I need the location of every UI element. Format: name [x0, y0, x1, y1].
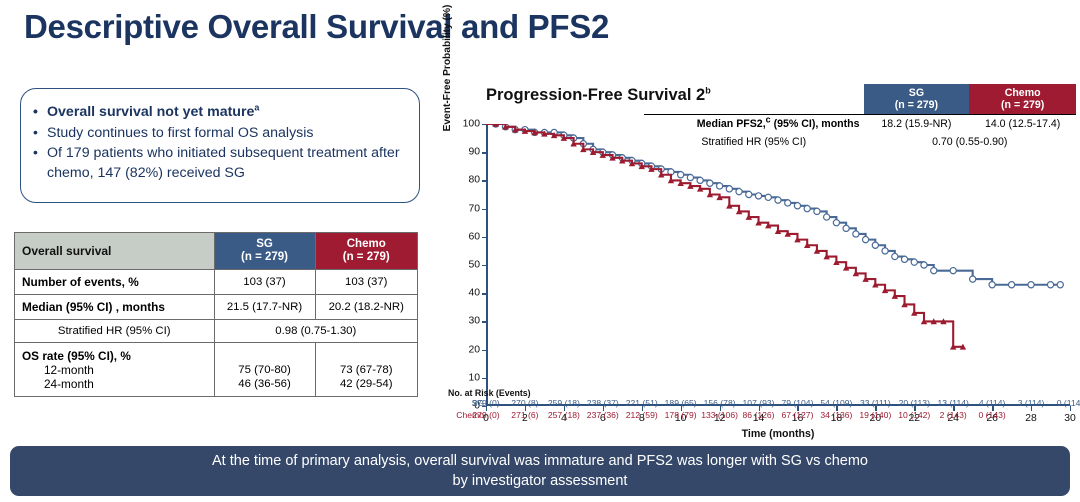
- km-curve-sg: [486, 124, 1060, 285]
- list-item: Of 179 patients who initiated subsequent…: [47, 144, 409, 183]
- row-label-stratified-hr: Stratified HR (95% CI): [15, 320, 215, 343]
- stratified-hr-value: 0.98 (0.75-1.30): [214, 320, 417, 343]
- censor-marker: [1009, 282, 1015, 288]
- y-tick-mark: [482, 321, 486, 322]
- risk-cell: 54 (109): [820, 398, 852, 408]
- table-row: Median (95% CI) , months 21.5 (17.7-NR) …: [15, 295, 418, 320]
- y-tick-label: 20: [468, 344, 480, 355]
- censor-marker: [726, 186, 732, 192]
- y-tick-label: 70: [468, 203, 480, 214]
- y-tick-label: 50: [468, 260, 480, 271]
- pfs2-header-chemo: Chemo (n = 279): [969, 84, 1076, 115]
- risk-cell: 4 (114): [979, 398, 1006, 408]
- risk-cell: 279 (0): [472, 410, 499, 420]
- risk-cell: 133 (106): [701, 410, 738, 420]
- y-tick-mark: [482, 209, 486, 210]
- risk-cell: 20 (113): [899, 398, 930, 408]
- risk-cell: 10 (142): [898, 410, 930, 420]
- pfs2-header-spacer: [644, 84, 864, 115]
- y-tick-mark: [482, 265, 486, 266]
- summary-banner: At the time of primary analysis, overall…: [10, 446, 1070, 496]
- x-axis-label: Time (months): [486, 428, 1070, 440]
- risk-cell: 2 (143): [940, 410, 967, 420]
- y-tick-label: 100: [463, 119, 480, 130]
- os-rate-chemo-values: 73 (67-78) 42 (29-54): [315, 343, 418, 397]
- bullet-text: Study continues to first formal OS analy…: [47, 125, 314, 141]
- risk-cell: 178 (79): [665, 410, 697, 420]
- y-tick-label: 30: [468, 316, 480, 327]
- os-rate-title: OS rate (95% CI), %: [22, 349, 131, 363]
- pfs2-header-sg-n: (n = 279): [895, 99, 938, 111]
- table-row: OS rate (95% CI), % 12-month 24-month 75…: [15, 343, 418, 397]
- os-rate-24-month-label: 24-month: [22, 377, 207, 391]
- y-tick-mark: [482, 293, 486, 294]
- risk-cell: 86 (126): [743, 410, 775, 420]
- overall-survival-table: Overall survival SG (n = 279) Chemo (n =…: [14, 232, 418, 397]
- banner-line-1: At the time of primary analysis, overall…: [212, 453, 868, 469]
- km-curves-svg: [486, 124, 1070, 406]
- censor-marker: [892, 253, 898, 259]
- y-tick-mark: [482, 378, 486, 379]
- events-chemo-value: 103 (37): [315, 270, 418, 295]
- censor-marker: [794, 203, 800, 209]
- censor-marker: [882, 248, 888, 254]
- bullet-list: Overall survival not yet maturea Study c…: [21, 89, 419, 183]
- risk-cell: 79 (104): [781, 398, 813, 408]
- risk-cell: 156 (78): [704, 398, 736, 408]
- risk-cell: 257 (18): [548, 410, 580, 420]
- censor-marker: [911, 259, 917, 265]
- risk-row-chemo: Chemo 279 (0)271 (6)257 (18)237 (36)212 …: [424, 410, 1080, 422]
- risk-table-heading: No. at Risk (Events): [448, 388, 1080, 398]
- y-tick-mark: [482, 124, 486, 125]
- censor-marker: [950, 268, 956, 274]
- median-sg-value: 21.5 (17.7-NR): [214, 295, 315, 320]
- censor-marker: [970, 276, 976, 282]
- y-tick-label: 80: [468, 175, 480, 186]
- censor-marker: [853, 231, 859, 237]
- os-rate-sg-12: 75 (70-80): [222, 363, 308, 377]
- os-header-sg-name: SG: [256, 238, 273, 250]
- number-at-risk-table: No. at Risk (Events) SG 279 (0)270 (8)25…: [424, 388, 1080, 422]
- row-label-median: Median (95% CI) , months: [15, 295, 215, 320]
- censor-marker: [755, 193, 761, 199]
- y-tick-label: 10: [468, 372, 480, 383]
- km-curve-chemo: [486, 124, 963, 347]
- risk-cell: 237 (36): [587, 410, 619, 420]
- censor-marker: [785, 200, 791, 206]
- banner-line-2: by investigator assessment: [453, 473, 628, 489]
- risk-cell: 271 (6): [511, 410, 538, 420]
- y-tick-mark: [482, 237, 486, 238]
- y-tick-mark: [482, 180, 486, 181]
- pfs2-header-sg: SG (n = 279): [864, 84, 970, 115]
- censor-marker: [863, 237, 869, 243]
- risk-cell: 3 (114): [1018, 398, 1045, 408]
- censor-marker: [804, 206, 810, 212]
- os-rate-12-month-label: 12-month: [22, 363, 207, 377]
- os-rate-sg-values: 75 (70-80) 46 (36-56): [214, 343, 315, 397]
- table-header-row: SG (n = 279) Chemo (n = 279): [644, 84, 1076, 115]
- risk-cell: 0 (143): [979, 410, 1006, 420]
- risk-cell: 19 (140): [859, 410, 891, 420]
- censor-marker: [1057, 282, 1063, 288]
- risk-cell: 34 (136): [820, 410, 852, 420]
- censor-marker: [765, 194, 771, 200]
- risk-cell: 221 (51): [626, 398, 658, 408]
- footnote-marker-a: a: [254, 102, 259, 112]
- censor-marker: [717, 183, 723, 189]
- list-item: Study continues to first formal OS analy…: [47, 124, 409, 144]
- risk-cell: 33 (111): [860, 398, 891, 408]
- y-tick-label: 40: [468, 288, 480, 299]
- censor-marker: [872, 242, 878, 248]
- censor-marker: [697, 177, 703, 183]
- censor-marker: [931, 268, 937, 274]
- risk-cell: 238 (37): [587, 398, 619, 408]
- risk-cell: 67 (127): [781, 410, 813, 420]
- os-header-chemo-n: (n = 279): [343, 251, 390, 263]
- key-points-callout: Overall survival not yet maturea Study c…: [20, 88, 420, 203]
- banner-text: At the time of primary analysis, overall…: [212, 451, 868, 491]
- y-axis-label: Event-Free Probability (%): [442, 0, 453, 168]
- table-header-row: Overall survival SG (n = 279) Chemo (n =…: [15, 233, 418, 270]
- os-header-label: Overall survival: [15, 233, 215, 270]
- pfs2-header-sg-name: SG: [909, 87, 924, 99]
- pfs2-header-chemo-name: Chemo: [1005, 87, 1041, 99]
- censor-marker: [814, 208, 820, 214]
- os-header-chemo: Chemo (n = 279): [315, 233, 418, 270]
- risk-cell: 270 (8): [511, 398, 538, 408]
- pfs2-header-chemo-n: (n = 279): [1001, 99, 1044, 111]
- risk-cell: 212 (59): [626, 410, 658, 420]
- os-rate-chemo-12: 73 (67-78): [323, 363, 411, 377]
- row-label-events: Number of events, %: [15, 270, 215, 295]
- censor-marker: [736, 189, 742, 195]
- censor-marker: [989, 282, 995, 288]
- median-chemo-value: 20.2 (18.2-NR): [315, 295, 418, 320]
- table-row: Number of events, % 103 (37) 103 (37): [15, 270, 418, 295]
- censor-marker: [775, 197, 781, 203]
- km-plot: Event-Free Probability (%) Time (months)…: [486, 124, 1070, 406]
- censor-marker: [687, 174, 693, 180]
- table-row: Stratified HR (95% CI) 0.98 (0.75-1.30): [15, 320, 418, 343]
- censor-marker: [833, 220, 839, 226]
- y-tick-label: 60: [468, 231, 480, 242]
- censor-marker: [678, 172, 684, 178]
- y-tick-label: 90: [468, 147, 480, 158]
- censor-marker: [824, 214, 830, 220]
- risk-cell: 107 (93): [743, 398, 775, 408]
- risk-cell: 13 (114): [938, 398, 969, 408]
- os-header-chemo-name: Chemo: [347, 238, 386, 250]
- os-rate-chemo-24: 42 (29-54): [323, 377, 411, 391]
- bullet-text: Overall survival not yet mature: [47, 104, 254, 120]
- risk-cell: 0 (114): [1057, 398, 1080, 408]
- os-rate-sg-24: 46 (36-56): [222, 377, 308, 391]
- pfs2-chart-region: Progression-Free Survival 2b SG (n = 279…: [424, 78, 1080, 438]
- censor-marker: [707, 180, 713, 186]
- censor-marker: [1028, 282, 1034, 288]
- events-sg-value: 103 (37): [214, 270, 315, 295]
- censor-marker: [746, 191, 752, 197]
- y-tick-mark: [482, 152, 486, 153]
- risk-cell: 279 (0): [472, 398, 499, 408]
- censor-marker: [843, 225, 849, 231]
- page-title: Descriptive Overall Survival and PFS2: [24, 8, 609, 46]
- censor-marker: [1047, 282, 1053, 288]
- os-header-sg-n: (n = 279): [241, 251, 288, 263]
- censor-marker: [921, 262, 927, 268]
- risk-cell: 259 (18): [548, 398, 580, 408]
- censor-marker: [901, 256, 907, 262]
- risk-row-sg: SG 279 (0)270 (8)259 (18)238 (37)221 (51…: [424, 398, 1080, 410]
- os-header-sg: SG (n = 279): [214, 233, 315, 270]
- bullet-text: Of 179 patients who initiated subsequent…: [47, 145, 400, 181]
- y-tick-mark: [482, 350, 486, 351]
- row-label-os-rate: OS rate (95% CI), % 12-month 24-month: [15, 343, 215, 397]
- list-item: Overall survival not yet maturea: [47, 103, 409, 123]
- slide-root: Descriptive Overall Survival and PFS2 Ov…: [0, 0, 1080, 502]
- risk-cell: 189 (65): [665, 398, 697, 408]
